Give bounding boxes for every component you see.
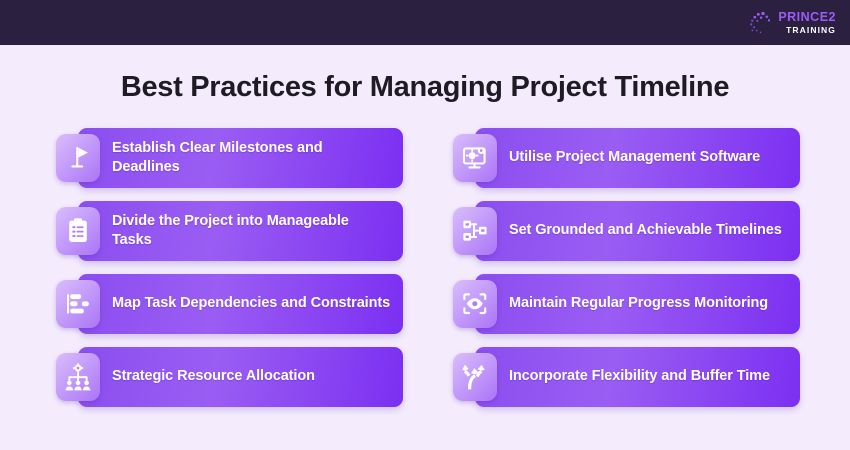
practice-card-label: Strategic Resource Allocation xyxy=(78,367,327,386)
brand-logo[interactable]: PRINCE2 TRAINING xyxy=(747,10,836,36)
header-bar: PRINCE2 TRAINING xyxy=(0,0,850,45)
gantt-dependency-icon xyxy=(56,280,100,328)
practice-card-label: Establish Clear Milestones and Deadlines xyxy=(78,139,403,178)
practice-card-label: Set Grounded and Achievable Timelines xyxy=(475,221,794,240)
practice-card-label: Divide the Project into Manageable Tasks xyxy=(78,212,403,251)
practice-card-label: Incorporate Flexibility and Buffer Time xyxy=(475,367,782,386)
practice-card-label: Utilise Project Management Software xyxy=(475,148,772,167)
branching-arrows-icon xyxy=(453,353,497,401)
org-chart-gear-icon xyxy=(56,353,100,401)
best-practices-grid: Establish Clear Milestones and Deadlines… xyxy=(0,128,850,407)
practice-card[interactable]: Strategic Resource Allocation xyxy=(78,347,403,407)
practice-card[interactable]: Set Grounded and Achievable Timelines xyxy=(475,201,800,261)
logo-subtitle: TRAINING xyxy=(778,26,836,35)
page-title: Best Practices for Managing Project Time… xyxy=(0,71,850,104)
monitor-gear-icon xyxy=(453,134,497,182)
practice-card-label: Maintain Regular Progress Monitoring xyxy=(475,294,780,313)
practice-card[interactable]: Map Task Dependencies and Constraints xyxy=(78,274,403,334)
practice-card[interactable]: Maintain Regular Progress Monitoring xyxy=(475,274,800,334)
clipboard-checklist-icon xyxy=(56,207,100,255)
practice-card[interactable]: Establish Clear Milestones and Deadlines xyxy=(78,128,403,188)
logo-name: PRINCE2 xyxy=(778,11,836,24)
practice-card[interactable]: Divide the Project into Manageable Tasks xyxy=(78,201,403,261)
workflow-nodes-icon xyxy=(453,207,497,255)
practice-card[interactable]: Incorporate Flexibility and Buffer Time xyxy=(475,347,800,407)
eye-scan-icon xyxy=(453,280,497,328)
dot-swirl-icon xyxy=(747,10,773,36)
flag-milestone-icon xyxy=(56,134,100,182)
practice-card[interactable]: Utilise Project Management Software xyxy=(475,128,800,188)
logo-wordmark: PRINCE2 TRAINING xyxy=(778,11,836,34)
practice-card-label: Map Task Dependencies and Constraints xyxy=(78,294,402,313)
